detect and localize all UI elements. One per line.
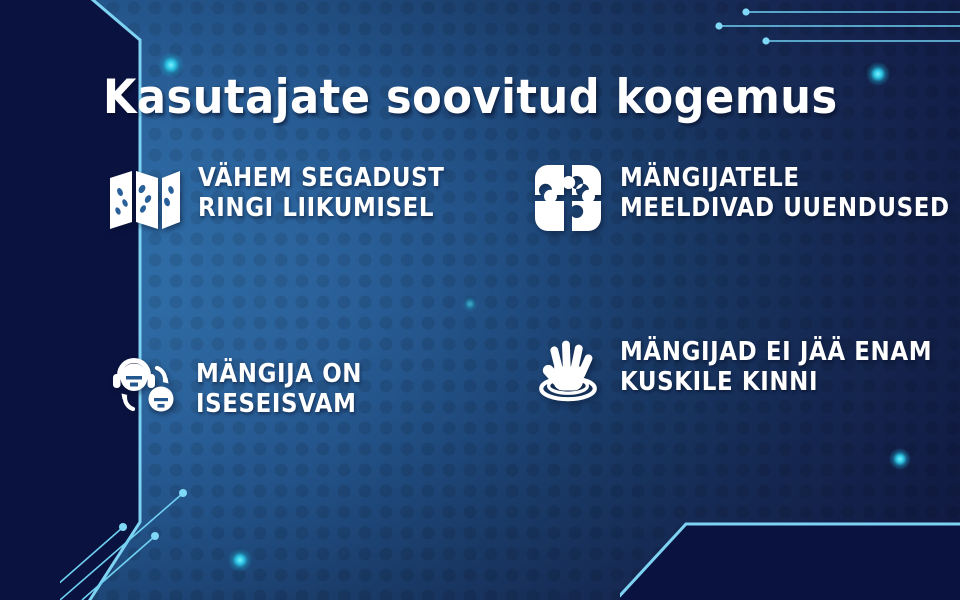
support-handoff-icon <box>108 346 180 418</box>
feature-item: MÄNGIJAD EI JÄÄ ENAM KUSKILE KINNI <box>532 336 950 408</box>
feature-item: MÄNGIJA ON ISESEISVAM <box>108 346 526 420</box>
hand-stuck-icon <box>532 336 604 408</box>
feature-label: VÄHEM SEGADUST RINGI LIIKUMISEL <box>198 162 528 224</box>
slide-canvas: Kasutajate soovitud kogemus <box>0 0 960 600</box>
feature-list: VÄHEM SEGADUST RINGI LIIKUMISEL MÄNGI <box>0 150 960 480</box>
puzzle-icon <box>532 162 604 234</box>
feature-item: VÄHEM SEGADUST RINGI LIIKUMISEL <box>108 162 528 236</box>
feature-label: MÄNGIJATELE MEELDIVAD UUENDUSED <box>620 162 950 224</box>
page-title: Kasutajate soovitud kogemus <box>103 74 838 121</box>
map-icon <box>108 162 182 236</box>
feature-item: MÄNGIJATELE MEELDIVAD UUENDUSED <box>532 162 950 234</box>
feature-label: MÄNGIJA ON ISESEISVAM <box>196 346 526 420</box>
feature-label: MÄNGIJAD EI JÄÄ ENAM KUSKILE KINNI <box>620 336 950 398</box>
